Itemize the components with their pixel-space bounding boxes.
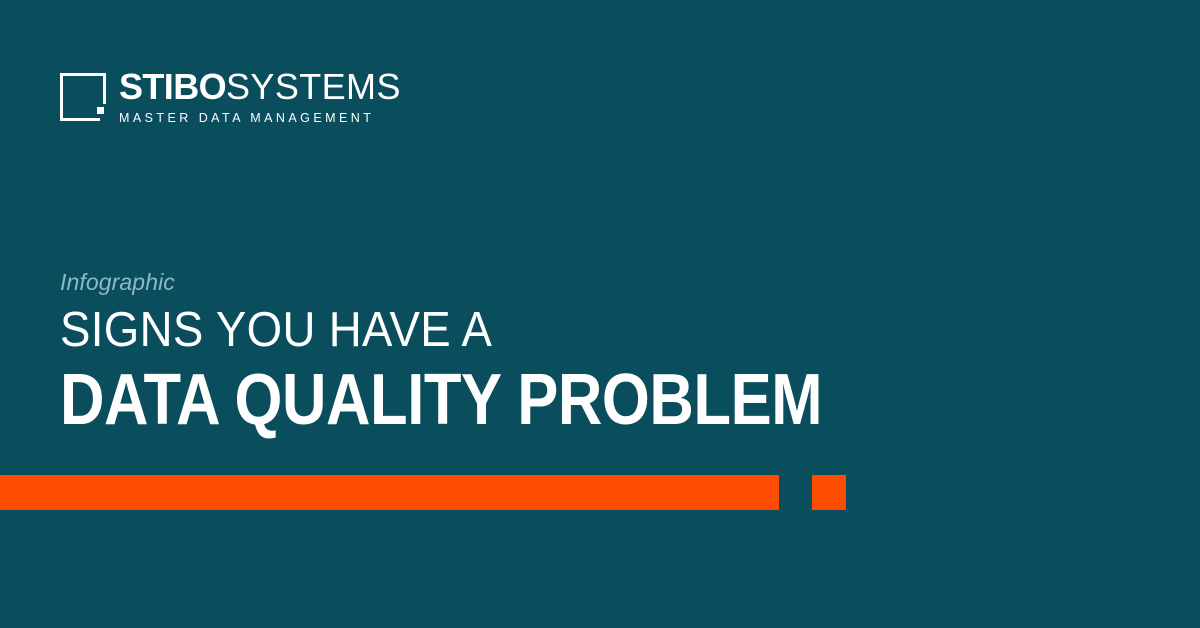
accent-bar-primary (0, 475, 779, 510)
hero-title-line-2: DATA QUALITY PROBLEM (60, 364, 915, 436)
logo-tagline: MASTER DATA MANAGEMENT (119, 111, 401, 125)
logo-text-group: STIBOSYSTEMS MASTER DATA MANAGEMENT (119, 68, 401, 125)
hero-eyebrow: Infographic (60, 268, 1060, 296)
brand-logo: STIBOSYSTEMS MASTER DATA MANAGEMENT (60, 68, 401, 125)
accent-bar-secondary (812, 475, 846, 510)
logo-wordmark: STIBOSYSTEMS (119, 68, 401, 106)
logo-wordmark-light: SYSTEMS (226, 66, 401, 107)
hero-title-line-1: SIGNS YOU HAVE A (60, 305, 990, 355)
hero-text-block: Infographic SIGNS YOU HAVE A DATA QUALIT… (60, 268, 1060, 436)
stibo-square-mark-icon (60, 73, 106, 121)
infographic-cover: STIBOSYSTEMS MASTER DATA MANAGEMENT Info… (0, 0, 1200, 628)
logo-wordmark-bold: STIBO (119, 66, 226, 107)
